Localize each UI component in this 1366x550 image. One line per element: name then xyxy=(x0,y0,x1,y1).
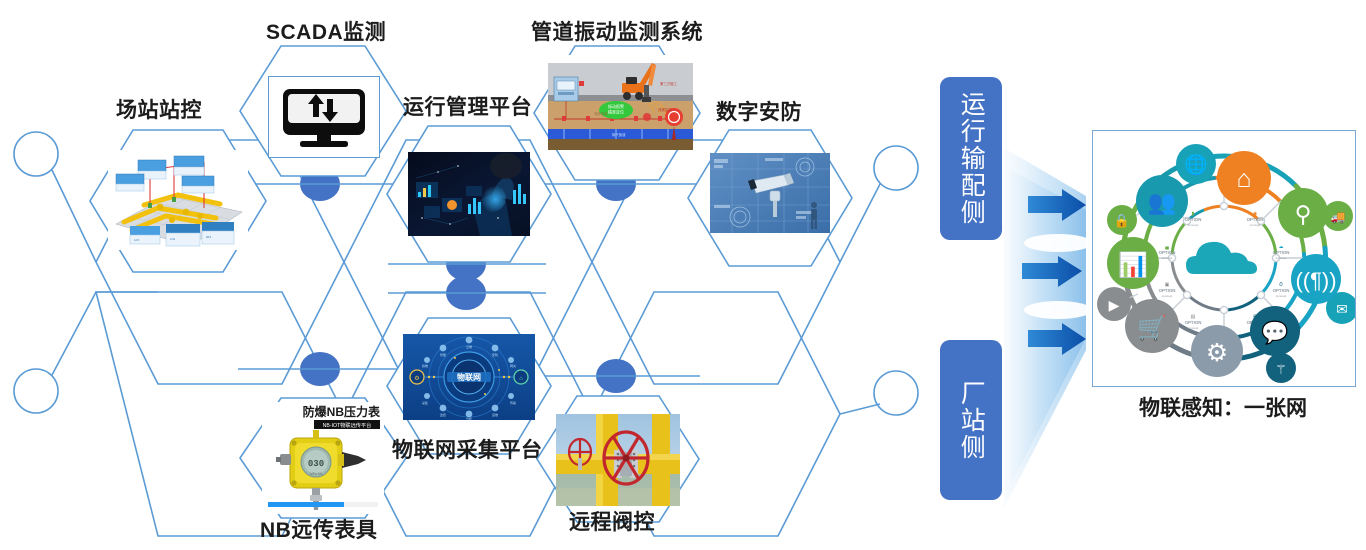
svg-text:OPTION: OPTION xyxy=(1247,217,1264,222)
nb-meter-image: 防爆NB压力表 NB-IOT物联远传平台 030 MPa SN xyxy=(262,402,384,514)
wheel-node-antenna: ((¶)) xyxy=(1291,254,1341,304)
svg-text:OPTION: OPTION xyxy=(1185,217,1202,222)
svg-text:⚙: ⚙ xyxy=(414,375,419,382)
svg-text:⚙: ⚙ xyxy=(1206,339,1228,367)
svg-text:💬: 💬 xyxy=(1261,320,1288,345)
wheel-node-chat: 💬 xyxy=(1250,306,1300,356)
diagram-canvas: 12.50.4238.6 场站站控 SCADA监测 xyxy=(0,0,1366,550)
svg-text:终端: 终端 xyxy=(422,363,428,368)
svg-text:concept: concept xyxy=(1276,294,1287,298)
truck-icon: 🚚 xyxy=(1331,210,1346,224)
iot-wheel-graphic: ▮OPTIONconcept ◉OPTIONconcept ▄OPTIONcon… xyxy=(1093,131,1355,386)
side-box-plant-label: 厂站侧 xyxy=(956,380,987,461)
svg-text:分析: 分析 xyxy=(466,416,472,420)
wheel-node-globe: 🌐 xyxy=(1176,144,1216,184)
svg-text:智能: 智能 xyxy=(440,352,446,357)
hex-label-pipeline-vibration: 管道振动监测系统 xyxy=(531,16,703,46)
iot-collection-image: 物联网 ⚙ ⌂ xyxy=(403,334,535,420)
chain-endpoint-circle-bottom xyxy=(14,369,58,413)
wheel-node-gear: ⚙ xyxy=(1191,325,1243,377)
svg-text:⚲: ⚲ xyxy=(1295,201,1312,227)
chain-endpoint-circle-top xyxy=(14,132,58,176)
svg-text:OPTION: OPTION xyxy=(1159,250,1176,255)
connector-node xyxy=(300,352,340,386)
svg-text:38.6: 38.6 xyxy=(206,235,212,239)
svg-text:OPTION: OPTION xyxy=(1273,288,1290,293)
wheel-node-home: ⌂ xyxy=(1217,151,1271,205)
svg-text:👥: 👥 xyxy=(1148,189,1177,216)
svg-text:concept: concept xyxy=(1250,223,1261,227)
wheel-node-location: ⚲ xyxy=(1278,188,1328,238)
svg-text:🛒: 🛒 xyxy=(1137,314,1167,342)
hex-card-operation-platform[interactable]: 运行管理平台 xyxy=(385,124,553,264)
connector-node xyxy=(446,276,486,310)
scada-monitor-icon xyxy=(268,76,380,158)
hex-card-iot-collection[interactable]: 物联网 ⚙ ⌂ xyxy=(385,316,553,456)
hex-label-scada: SCADA监测 xyxy=(266,16,386,46)
svg-text:OPTION: OPTION xyxy=(1273,250,1290,255)
station-control-image: 12.50.4238.6 xyxy=(108,150,248,250)
svg-text:网关: 网关 xyxy=(510,363,516,368)
svg-text:concept: concept xyxy=(1188,326,1199,330)
hex-card-remote-valve[interactable]: 远程阀控 xyxy=(535,394,701,524)
svg-text:云端: 云端 xyxy=(466,344,472,349)
connector-node xyxy=(596,359,636,393)
svg-text:振动报警: 振动报警 xyxy=(608,103,624,109)
side-box-plant[interactable]: 厂站侧 xyxy=(940,340,1002,500)
wheel-node-chart: 📊 xyxy=(1107,237,1159,289)
svg-text:concept: concept xyxy=(1162,256,1173,260)
svg-text:运维: 运维 xyxy=(492,412,498,417)
iot-wheel-caption: 物联感知：一张网 xyxy=(1092,392,1354,422)
iot-wheel-panel: ▮OPTIONconcept ◉OPTIONconcept ▄OPTIONcon… xyxy=(1092,130,1356,387)
svg-text:MPa SN: MPa SN xyxy=(310,472,323,476)
envelope-icon: ✉ xyxy=(1336,301,1348,317)
hex-card-nb-meter[interactable]: 防爆NB压力表 NB-IOT物联远传平台 030 MPa SN xyxy=(238,396,408,520)
svg-text:第三方施工: 第三方施工 xyxy=(660,81,678,86)
side-box-transmission-label: 运行输配侧 xyxy=(956,91,987,226)
svg-text:🌐: 🌐 xyxy=(1184,153,1208,176)
svg-text:精准定位: 精准定位 xyxy=(608,109,624,115)
svg-text:concept: concept xyxy=(1188,223,1199,227)
svg-text:concept: concept xyxy=(1276,256,1287,260)
hex-label-remote-valve: 远程阀控 xyxy=(569,506,655,536)
svg-text:NB-IOT物联远传平台: NB-IOT物联远传平台 xyxy=(323,421,372,429)
play-icon: ▶ xyxy=(1109,297,1120,313)
svg-text:12.5: 12.5 xyxy=(134,238,140,242)
svg-text:物联网: 物联网 xyxy=(457,372,481,382)
svg-text:传输: 传输 xyxy=(510,400,516,405)
svg-text:OPTION: OPTION xyxy=(1185,320,1202,325)
svg-text:⌂: ⌂ xyxy=(519,376,523,382)
hex-label-digital-security: 数字安防 xyxy=(716,96,802,126)
hex-label-iot-collection: 物联网采集平台 xyxy=(392,434,543,464)
plant-icon: ⚚ xyxy=(1275,362,1287,377)
digital-security-image xyxy=(710,153,830,233)
hex-card-digital-security[interactable]: 数字安防 xyxy=(686,128,854,268)
hex-label-nb-meter: NB远传表具 xyxy=(260,514,377,544)
lock-icon: 🔒 xyxy=(1114,213,1130,228)
hex-card-pipeline-vibration[interactable]: 振动报警 精准定位 光纤传感 第三方施工 泄漏监测 输气管道 xyxy=(532,44,702,182)
hex-label-operation-platform: 运行管理平台 xyxy=(403,91,532,121)
wheel-node-cart: 🛒 xyxy=(1125,299,1179,353)
side-box-transmission[interactable]: 运行输配侧 xyxy=(940,77,1002,240)
remote-valve-image xyxy=(556,414,680,506)
svg-text:防爆NB压力表: 防爆NB压力表 xyxy=(303,404,381,419)
operation-platform-image xyxy=(408,152,530,236)
svg-text:((¶)): ((¶)) xyxy=(1295,268,1336,293)
arrow-right xyxy=(1022,189,1086,355)
svg-text:监控: 监控 xyxy=(440,412,446,417)
svg-text:光纤传感: 光纤传感 xyxy=(594,111,608,116)
svg-text:输气管道: 输气管道 xyxy=(612,132,626,137)
svg-text:0.42: 0.42 xyxy=(170,237,176,241)
svg-text:采集: 采集 xyxy=(422,400,428,405)
svg-text:OPTION: OPTION xyxy=(1159,288,1176,293)
svg-text:📊: 📊 xyxy=(1118,251,1148,279)
svg-text:安防: 安防 xyxy=(492,352,498,357)
svg-text:concept: concept xyxy=(1162,294,1173,298)
svg-text:泄漏监测: 泄漏监测 xyxy=(658,107,672,112)
svg-text:030: 030 xyxy=(308,459,324,469)
svg-text:⌂: ⌂ xyxy=(1236,165,1251,193)
hex-label-station-control: 场站站控 xyxy=(116,94,202,124)
hex-card-scada[interactable]: SCADA监测 xyxy=(238,44,408,178)
pipeline-vibration-image: 振动报警 精准定位 光纤传感 第三方施工 泄漏监测 输气管道 xyxy=(548,55,693,150)
wheel-node-people: 👥 xyxy=(1136,175,1188,227)
